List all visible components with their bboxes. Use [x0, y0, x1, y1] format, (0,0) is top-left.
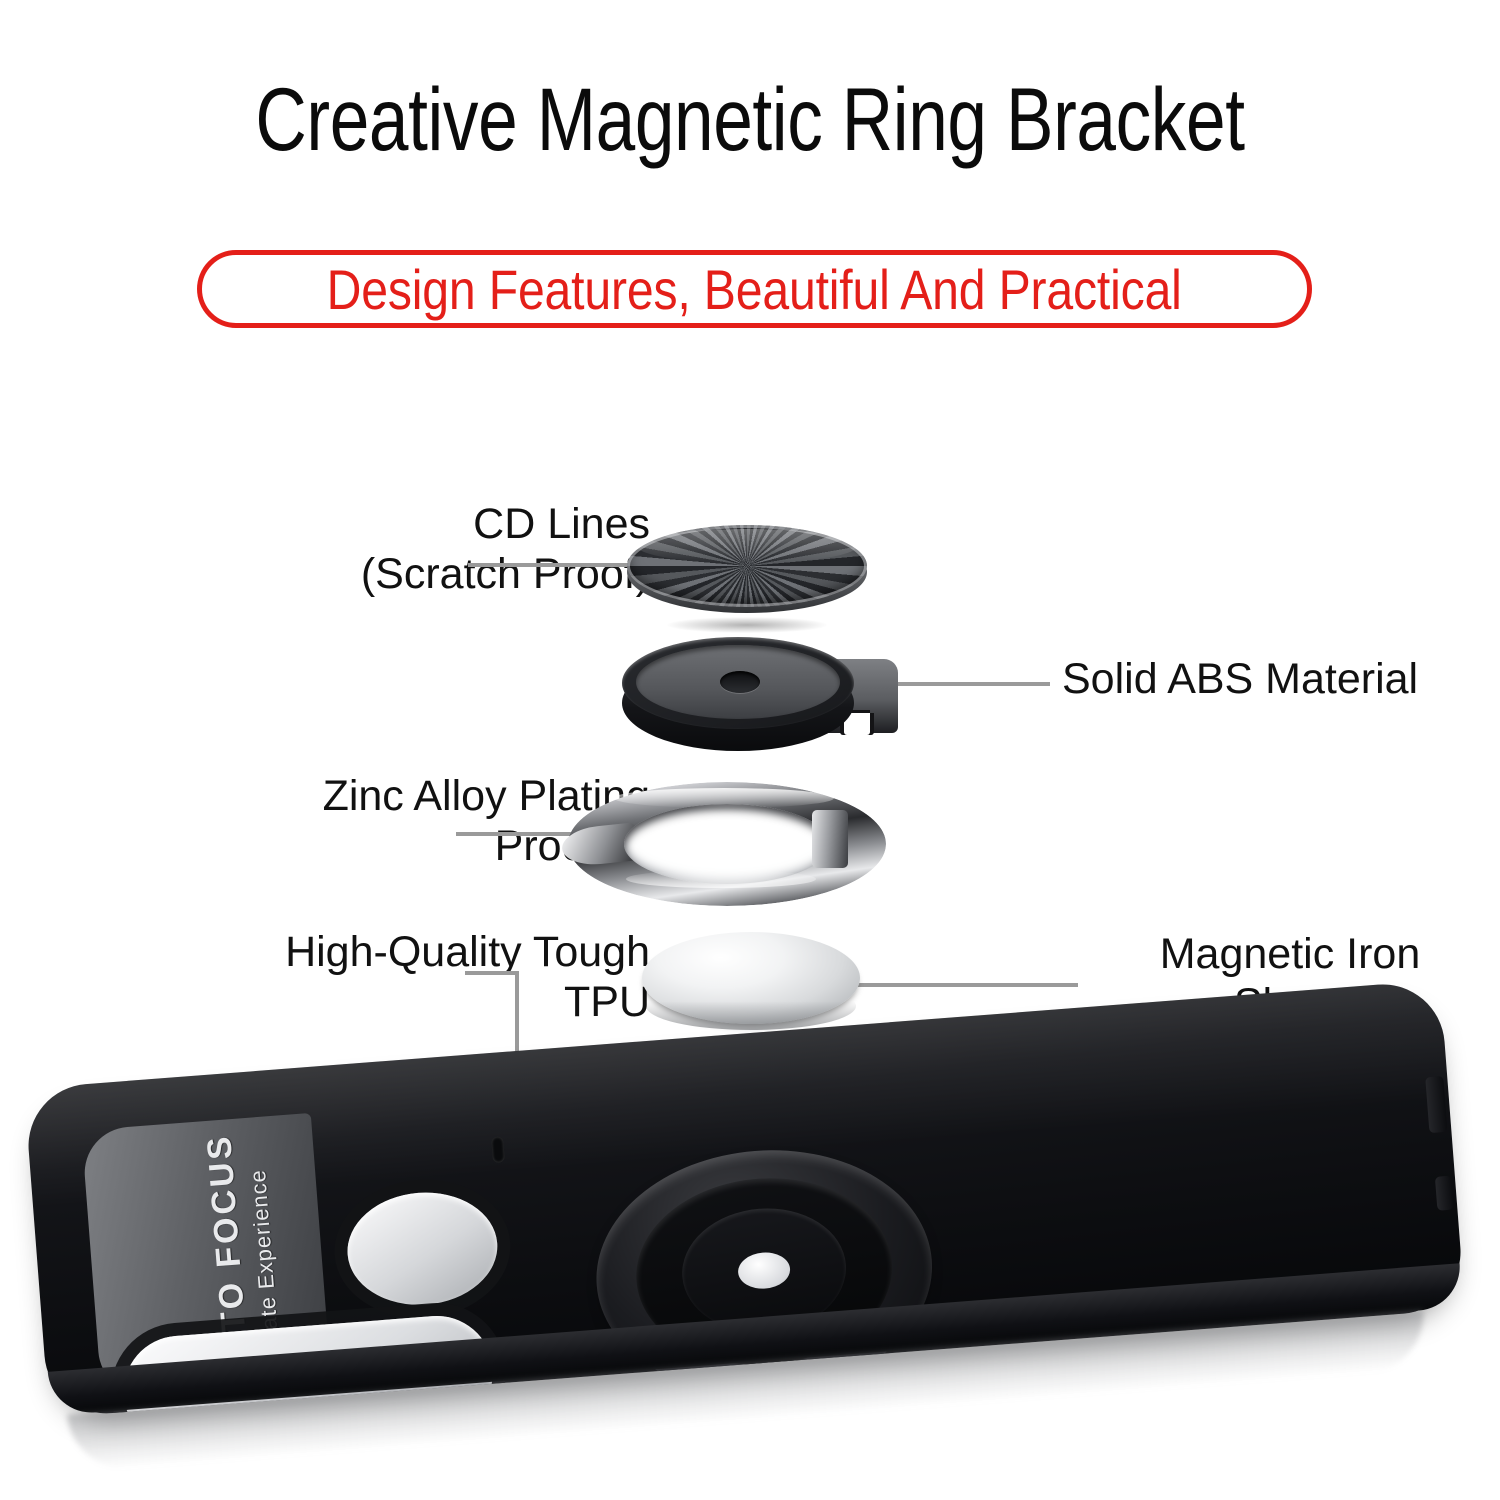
power-button-cutout [1435, 1176, 1454, 1211]
abs-puck-center-hole [720, 671, 760, 693]
microphone-hole [491, 1136, 505, 1163]
page-title: Creative Magnetic Ring Bracket [150, 68, 1350, 171]
chrome-ring-highlight-bottom [626, 870, 816, 888]
leader-line-magnet [830, 983, 1078, 987]
callout-label-zinc: Zinc Alloy Plating Process [70, 772, 650, 872]
abs-puck [622, 637, 892, 765]
cd-disc-gloss [637, 529, 857, 563]
leader-line-tpu-horizontal [465, 971, 519, 975]
camera-cutout [343, 1187, 501, 1310]
cd-lines-disc [627, 525, 867, 613]
subtitle-text: Design Features, Beautiful And Practical [327, 257, 1182, 322]
chrome-ring-hinge [812, 810, 848, 868]
chrome-ring [568, 782, 886, 906]
callout-label-tpu: High-Quality Tough TPU [70, 928, 650, 1028]
callout-label-cd-lines: CD Lines (Scratch Proof) [90, 500, 650, 600]
chrome-ring-highlight-top [614, 788, 834, 808]
phone-case: AUTO FOCUS Ultimate Experience [1, 963, 1487, 1474]
infographic-page: Creative Magnetic Ring Bracket Design Fe… [0, 0, 1500, 1500]
cd-disc-shadow [667, 617, 827, 633]
subtitle-badge: Design Features, Beautiful And Practical [197, 250, 1312, 328]
callout-label-abs: Solid ABS Material [1062, 655, 1492, 705]
